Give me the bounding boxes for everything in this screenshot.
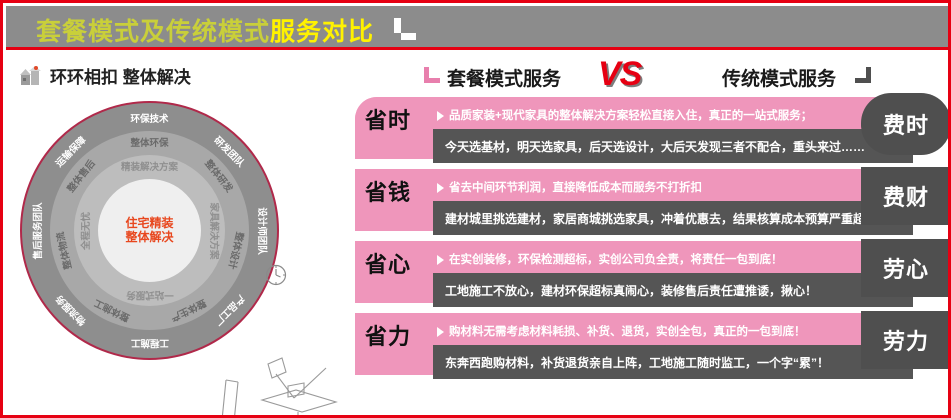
row-negative-text: 今天选基材，明天选家具，后天选设计，大后天发现三者不配合，重头来过……	[445, 138, 865, 155]
row-positive-text: 省去中间环节利润，直接降低成本而服务不打折扣	[449, 179, 869, 195]
comparison-infographic: 套餐模式及传统模式服务对比 环环相扣 整体解决	[0, 0, 951, 418]
row-positive-text: 品质家装+现代家具的整体解决方案轻松直接入住，真正的一站式服务；	[449, 107, 869, 123]
corner-bracket-icon	[855, 67, 871, 83]
wheel-hub: 住宅精装 整体解决	[98, 179, 201, 282]
row-badge: 劳心	[861, 239, 951, 297]
wheel-hub-line2: 整体解决	[125, 231, 173, 245]
row-badge: 费财	[861, 167, 951, 225]
triangle-right-icon	[437, 327, 444, 337]
wheel-inner-label: 全程无忧	[78, 211, 92, 249]
wheel-hub-line1: 住宅精装	[125, 217, 173, 231]
row-key-label: 省力	[365, 319, 411, 351]
row-positive-text: 购材料无需考虑材料耗损、补货、退货，实创全包，真正的一包到底！	[449, 323, 869, 339]
left-heading-text: 环环相扣 整体解决	[50, 63, 191, 88]
triangle-right-icon	[437, 183, 444, 193]
row-badge-label: 劳力	[883, 324, 929, 356]
left-heading-group: 环环相扣 整体解决	[20, 63, 191, 88]
comparison-left-label: 套餐模式服务	[447, 64, 561, 91]
row-key-label: 省时	[365, 103, 411, 135]
comparison-row: 省心在实创装修，环保检测超标，实创公司负全责，将责任一包到底！工地施工不放心，建…	[351, 241, 951, 313]
house-icon	[20, 66, 42, 86]
vs-logo: VS	[598, 55, 641, 94]
row-key-label: 省心	[365, 247, 411, 279]
row-badge: 费时	[861, 93, 951, 155]
clock-icon	[265, 264, 287, 286]
comparison-row: 省时品质家装+现代家具的整体解决方案轻松直接入住，真正的一站式服务；今天选基材，…	[351, 97, 951, 169]
row-positive-text: 在实创装修，环保检测超标，实创公司负全责，将责任一包到底！	[449, 251, 869, 267]
row-negative-text: 工地施工不放心，建材环保超标真闹心，装修售后责任遭推诿，揪心！	[445, 282, 865, 299]
comparison-row: 省钱省去中间环节利润，直接降低成本而服务不打折扣建材城里挑选建材，家居商城挑选家…	[351, 169, 951, 241]
row-badge: 劳力	[861, 311, 951, 369]
furniture-line-art	[176, 328, 351, 418]
row-key-label: 省钱	[365, 175, 411, 207]
wheel-outer-label: 环保技术	[130, 111, 168, 125]
right-panel: 套餐模式服务 VS 传统模式服务 省时品质家装+现代家具的整体解决方案轻松直接入…	[351, 53, 951, 418]
wheel-outer-label: 工程施工	[130, 337, 168, 351]
wheel-outer-label: 售后服务团队	[30, 202, 44, 259]
row-badge-label: 费财	[883, 180, 929, 212]
triangle-right-icon	[437, 255, 444, 265]
wheel-mid-label: 整体环保	[130, 135, 168, 149]
wheel-inner-label: 一站式服务	[126, 289, 174, 303]
page-title-plain: 套餐模式及传统模式	[36, 18, 270, 46]
wheel-inner-label: 精装解决方案	[121, 159, 178, 173]
triangle-right-icon	[437, 111, 444, 121]
comparison-header: 套餐模式服务 VS 传统模式服务	[351, 57, 951, 95]
row-negative-text: 东奔西跑购材料，补货退货亲自上阵，工地施工随时监工，一个字“累”！	[445, 354, 865, 371]
left-panel: 环环相扣 整体解决 住宅精装 整体解决 环保技术研发团队设计师团队产品工厂工程施…	[6, 53, 351, 418]
concentric-wheel-diagram: 住宅精装 整体解决 环保技术研发团队设计师团队产品工厂工程施工物流服务售后服务团…	[20, 101, 279, 360]
row-badge-label: 劳心	[883, 252, 929, 284]
row-negative-text: 建材城里挑选建材，家居商城挑选家具，冲着优惠去，结果核算成本预算严重超标！	[445, 210, 865, 227]
wheel-inner-label: 家具解决方案	[208, 202, 222, 259]
wheel-outer-label: 设计师团队	[256, 207, 270, 255]
page-title-highlight: 服务对比	[270, 18, 374, 46]
comparison-right-label: 传统模式服务	[722, 64, 836, 91]
page-header: 套餐模式及传统模式服务对比	[6, 6, 951, 50]
row-badge-label: 费时	[883, 108, 929, 140]
comparison-row: 省力购材料无需考虑材料耗损、补货、退货，实创全包，真正的一包到底！东奔西跑购材料…	[351, 313, 951, 385]
corner-bracket-icon	[424, 67, 440, 83]
page-title: 套餐模式及传统模式服务对比	[36, 12, 374, 48]
corner-bracket-icon	[394, 18, 416, 40]
